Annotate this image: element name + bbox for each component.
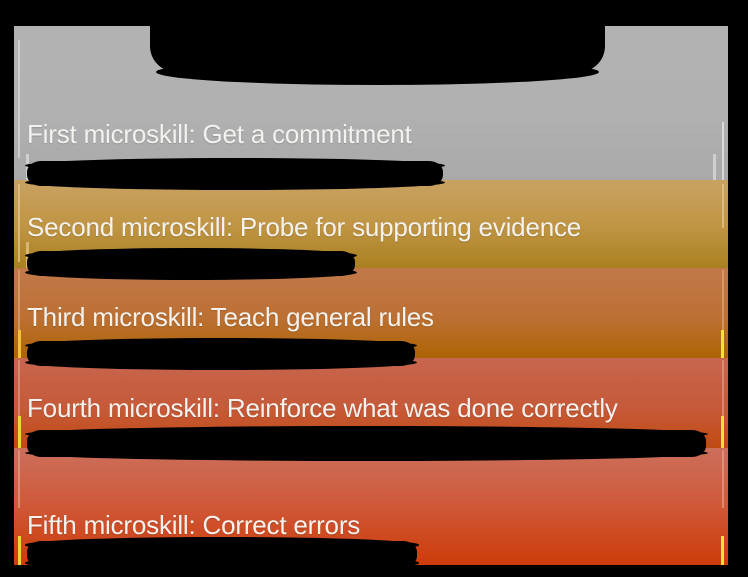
band-4-right-tick bbox=[721, 416, 724, 448]
microskill-heading-3: Third microskill: Teach general rules bbox=[27, 302, 434, 333]
band-3-right-rail bbox=[722, 270, 724, 330]
band-5-left-rail bbox=[18, 450, 20, 508]
band-5-right-rail bbox=[722, 450, 724, 508]
slide-content-plate: First microskill: Get a commitment Secon… bbox=[14, 26, 728, 565]
band-2-left-rail bbox=[18, 184, 20, 262]
redacted-body-text-4 bbox=[27, 430, 706, 457]
redacted-body-text-3 bbox=[27, 341, 415, 366]
band-1-right-tick bbox=[713, 154, 716, 180]
band-4-left-tick bbox=[18, 416, 21, 448]
microskill-heading-1: First microskill: Get a commitment bbox=[27, 119, 412, 150]
redacted-body-text-2 bbox=[27, 251, 355, 276]
band-1-right-rail bbox=[722, 122, 724, 180]
microskill-heading-2: Second microskill: Probe for supporting … bbox=[27, 212, 581, 243]
band-1-left-rail bbox=[18, 40, 20, 158]
microskill-heading-4: Fourth microskill: Reinforce what was do… bbox=[27, 393, 618, 424]
band-4-right-rail bbox=[722, 360, 724, 418]
band-2-right-rail bbox=[722, 184, 724, 228]
microskill-heading-5: Fifth microskill: Correct errors bbox=[27, 510, 360, 541]
slide-canvas: First microskill: Get a commitment Secon… bbox=[0, 0, 748, 577]
band-5-left-tick bbox=[18, 536, 21, 565]
band-3-right-tick bbox=[721, 330, 724, 358]
band-5-right-tick bbox=[721, 536, 724, 565]
redacted-body-text-5 bbox=[27, 541, 417, 567]
redacted-slide-title bbox=[150, 0, 605, 72]
redacted-body-text-1 bbox=[27, 161, 443, 186]
band-3-left-tick bbox=[18, 330, 21, 358]
band-4-left-rail bbox=[18, 360, 20, 418]
band-3-left-rail bbox=[18, 270, 20, 330]
